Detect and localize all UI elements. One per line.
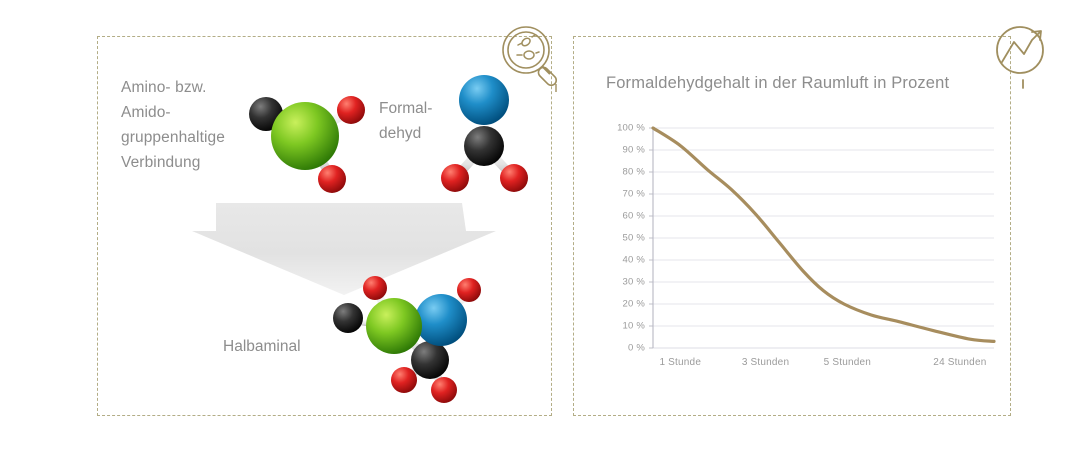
y-axis-tick-label: 10 % [599, 321, 645, 332]
x-axis-tick-label: 5 Stunden [824, 357, 871, 368]
y-axis-tick-label: 20 % [599, 299, 645, 310]
x-axis-tick-label: 1 Stunde [659, 357, 701, 368]
magnifier-molecule-icon [496, 22, 570, 96]
y-axis-tick-label: 40 % [599, 255, 645, 266]
trend-chart-icon [986, 18, 1060, 92]
chart-svg [600, 120, 1000, 370]
y-axis-tick-label: 0 % [599, 343, 645, 354]
product-label: Halbaminal [223, 338, 301, 356]
chart-title: Formaldehydgehalt in der Raumluft in Pro… [606, 74, 949, 93]
halbaminal-molecule [328, 272, 500, 408]
screenshot-canvas: Amino- bzw. Amido- gruppenhaltige Verbin… [0, 0, 1080, 462]
series-line-0 [653, 128, 994, 341]
y-axis-tick-label: 50 % [599, 233, 645, 244]
y-axis-tick-label: 30 % [599, 277, 645, 288]
x-axis-tick-label: 3 Stunden [742, 357, 789, 368]
y-axis-tick-label: 80 % [599, 167, 645, 178]
y-axis-tick-label: 100 % [599, 123, 645, 134]
x-axis-tick-label: 24 Stunden [933, 357, 986, 368]
amino-compound-molecule [238, 82, 370, 194]
y-axis-tick-label: 70 % [599, 189, 645, 200]
chart-plot: 100 %90 %80 %70 %60 %50 %40 %30 %20 %10 … [600, 120, 1000, 370]
y-axis-tick-label: 60 % [599, 211, 645, 222]
y-axis-tick-label: 90 % [599, 145, 645, 156]
